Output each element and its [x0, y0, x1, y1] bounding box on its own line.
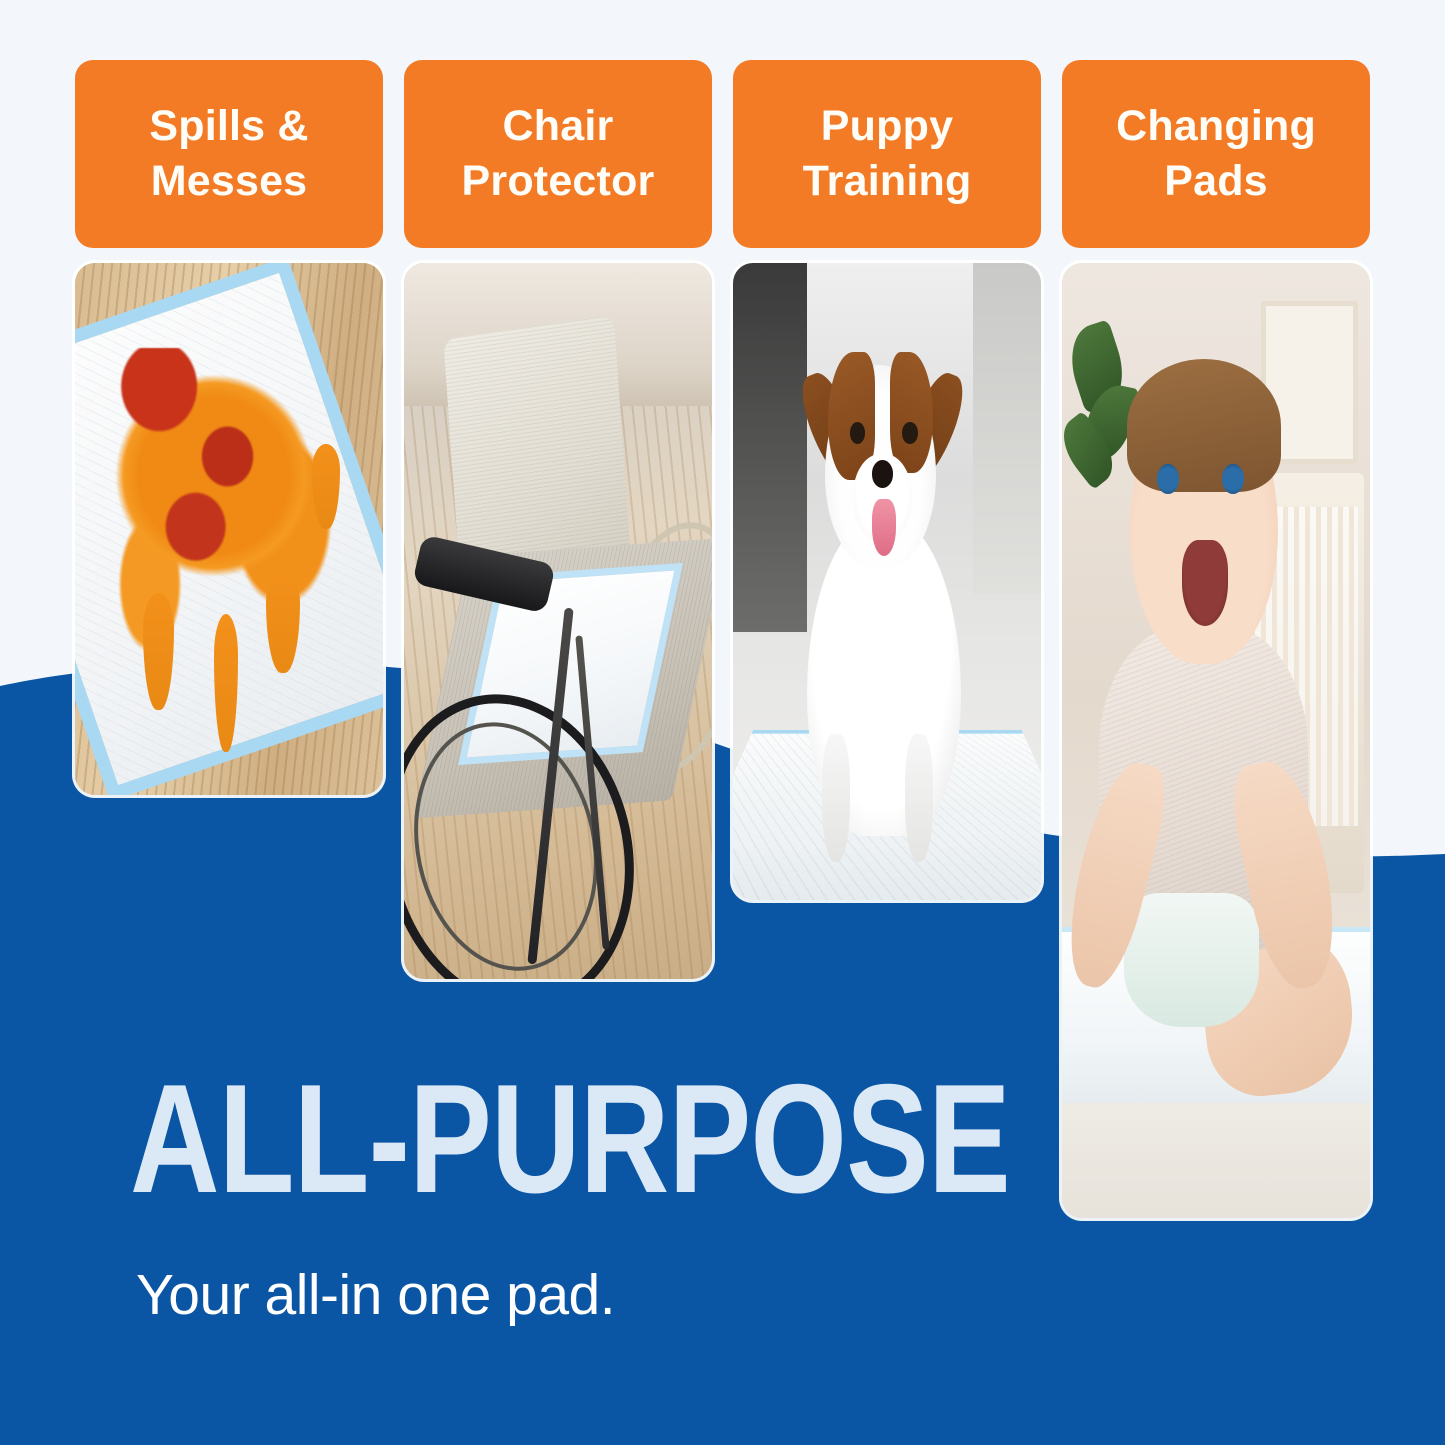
baby-eye	[1222, 464, 1244, 495]
use-case-chip-spills-messes[interactable]: Spills & Messes	[75, 60, 383, 248]
chip-label: Puppy Training	[803, 99, 972, 209]
chip-label: Spills & Messes	[149, 99, 308, 209]
puppy-front-leg	[905, 734, 933, 861]
baby-eye	[1157, 464, 1179, 495]
use-case-chip-puppy-training[interactable]: Puppy Training	[733, 60, 1041, 248]
dark-wall-panel	[733, 263, 807, 632]
light-wall-panel	[973, 263, 1041, 594]
chip-label: Changing Pads	[1116, 99, 1316, 209]
baby-diaper	[1124, 893, 1260, 1027]
use-case-photo-spills-messes	[75, 263, 383, 795]
promo-infographic: Spills & Messes Chair Protector Puppy Tr…	[0, 0, 1445, 1445]
use-case-chip-changing-pads[interactable]: Changing Pads	[1062, 60, 1370, 248]
nursery-floor	[1062, 1094, 1370, 1218]
use-case-photo-changing-pads	[1062, 263, 1370, 1218]
page-subheadline: Your all-in one pad.	[136, 1262, 615, 1328]
use-case-photo-chair-protector	[404, 263, 712, 979]
puppy-tongue	[872, 499, 897, 556]
puppy-eye	[902, 422, 917, 444]
use-case-chip-chair-protector[interactable]: Chair Protector	[404, 60, 712, 248]
use-case-photo-puppy-training	[733, 263, 1041, 900]
puppy-front-leg	[822, 734, 850, 861]
page-headline: ALL-PURPOSE	[130, 1068, 1010, 1211]
baby-mouth	[1182, 540, 1228, 626]
baby-hair	[1127, 359, 1281, 493]
chip-label: Chair Protector	[462, 99, 655, 209]
